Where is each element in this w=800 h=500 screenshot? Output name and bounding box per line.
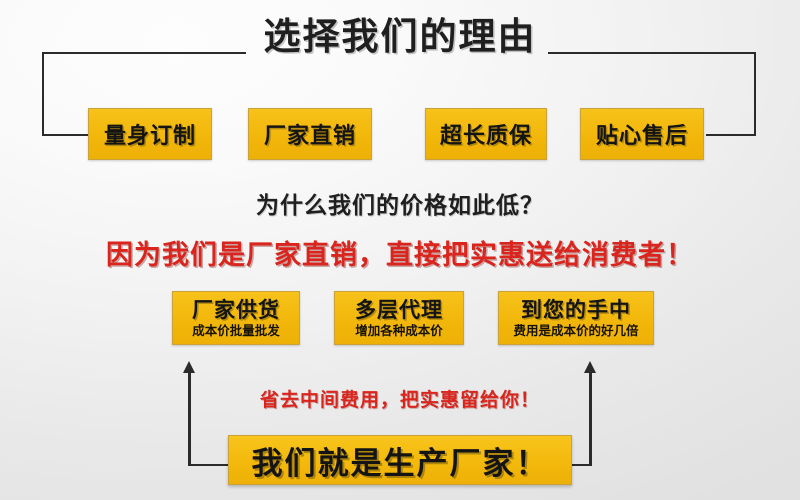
top-bracket-right-vertical (754, 52, 756, 136)
chain-box-2-subtitle: 增加各种成本价 (355, 323, 443, 339)
savings-text: 省去中间费用，把实惠留给你！ (0, 385, 800, 412)
reason-chip-2-label: 厂家直销 (264, 118, 356, 150)
promo-poster: 选择我们的理由 量身订制 厂家直销 超长质保 贴心售后 为什么我们的价格如此低？… (0, 0, 800, 500)
chain-box-3-subtitle: 费用是成本价的好几倍 (513, 323, 638, 339)
final-banner-label: 我们就是生产厂家！ (252, 438, 549, 483)
chain-box-1-subtitle: 成本价批量批发 (192, 323, 280, 339)
left-arrow-foot (188, 464, 230, 466)
top-bracket-right-foot (706, 134, 756, 136)
chain-box-3-title: 到您的手中 (521, 299, 631, 323)
reason-chip-4[interactable]: 贴心售后 (580, 108, 704, 160)
page-title: 选择我们的理由 (0, 18, 800, 55)
chain-box-2[interactable]: 多层代理 增加各种成本价 (334, 291, 464, 345)
answer-text: 因为我们是厂家直销，直接把实惠送给消费者！ (0, 233, 800, 272)
reason-chip-4-label: 贴心售后 (596, 118, 688, 150)
chain-box-1[interactable]: 厂家供货 成本价批量批发 (172, 291, 300, 345)
right-arrow-foot (570, 464, 592, 466)
chain-box-1-title: 厂家供货 (192, 299, 280, 323)
final-banner[interactable]: 我们就是生产厂家！ (228, 435, 572, 485)
reason-chip-3[interactable]: 超长质保 (425, 108, 547, 160)
top-bracket-left-vertical (42, 52, 44, 136)
chain-box-3[interactable]: 到您的手中 费用是成本价的好几倍 (498, 291, 654, 345)
reason-chip-2[interactable]: 厂家直销 (248, 108, 372, 160)
reason-chip-1-label: 量身订制 (104, 118, 196, 150)
reason-chip-3-label: 超长质保 (440, 118, 532, 150)
question-text: 为什么我们的价格如此低？ (0, 186, 800, 220)
reason-chip-1[interactable]: 量身订制 (88, 108, 212, 160)
chain-box-2-title: 多层代理 (355, 299, 443, 323)
top-bracket-left-foot (42, 134, 90, 136)
